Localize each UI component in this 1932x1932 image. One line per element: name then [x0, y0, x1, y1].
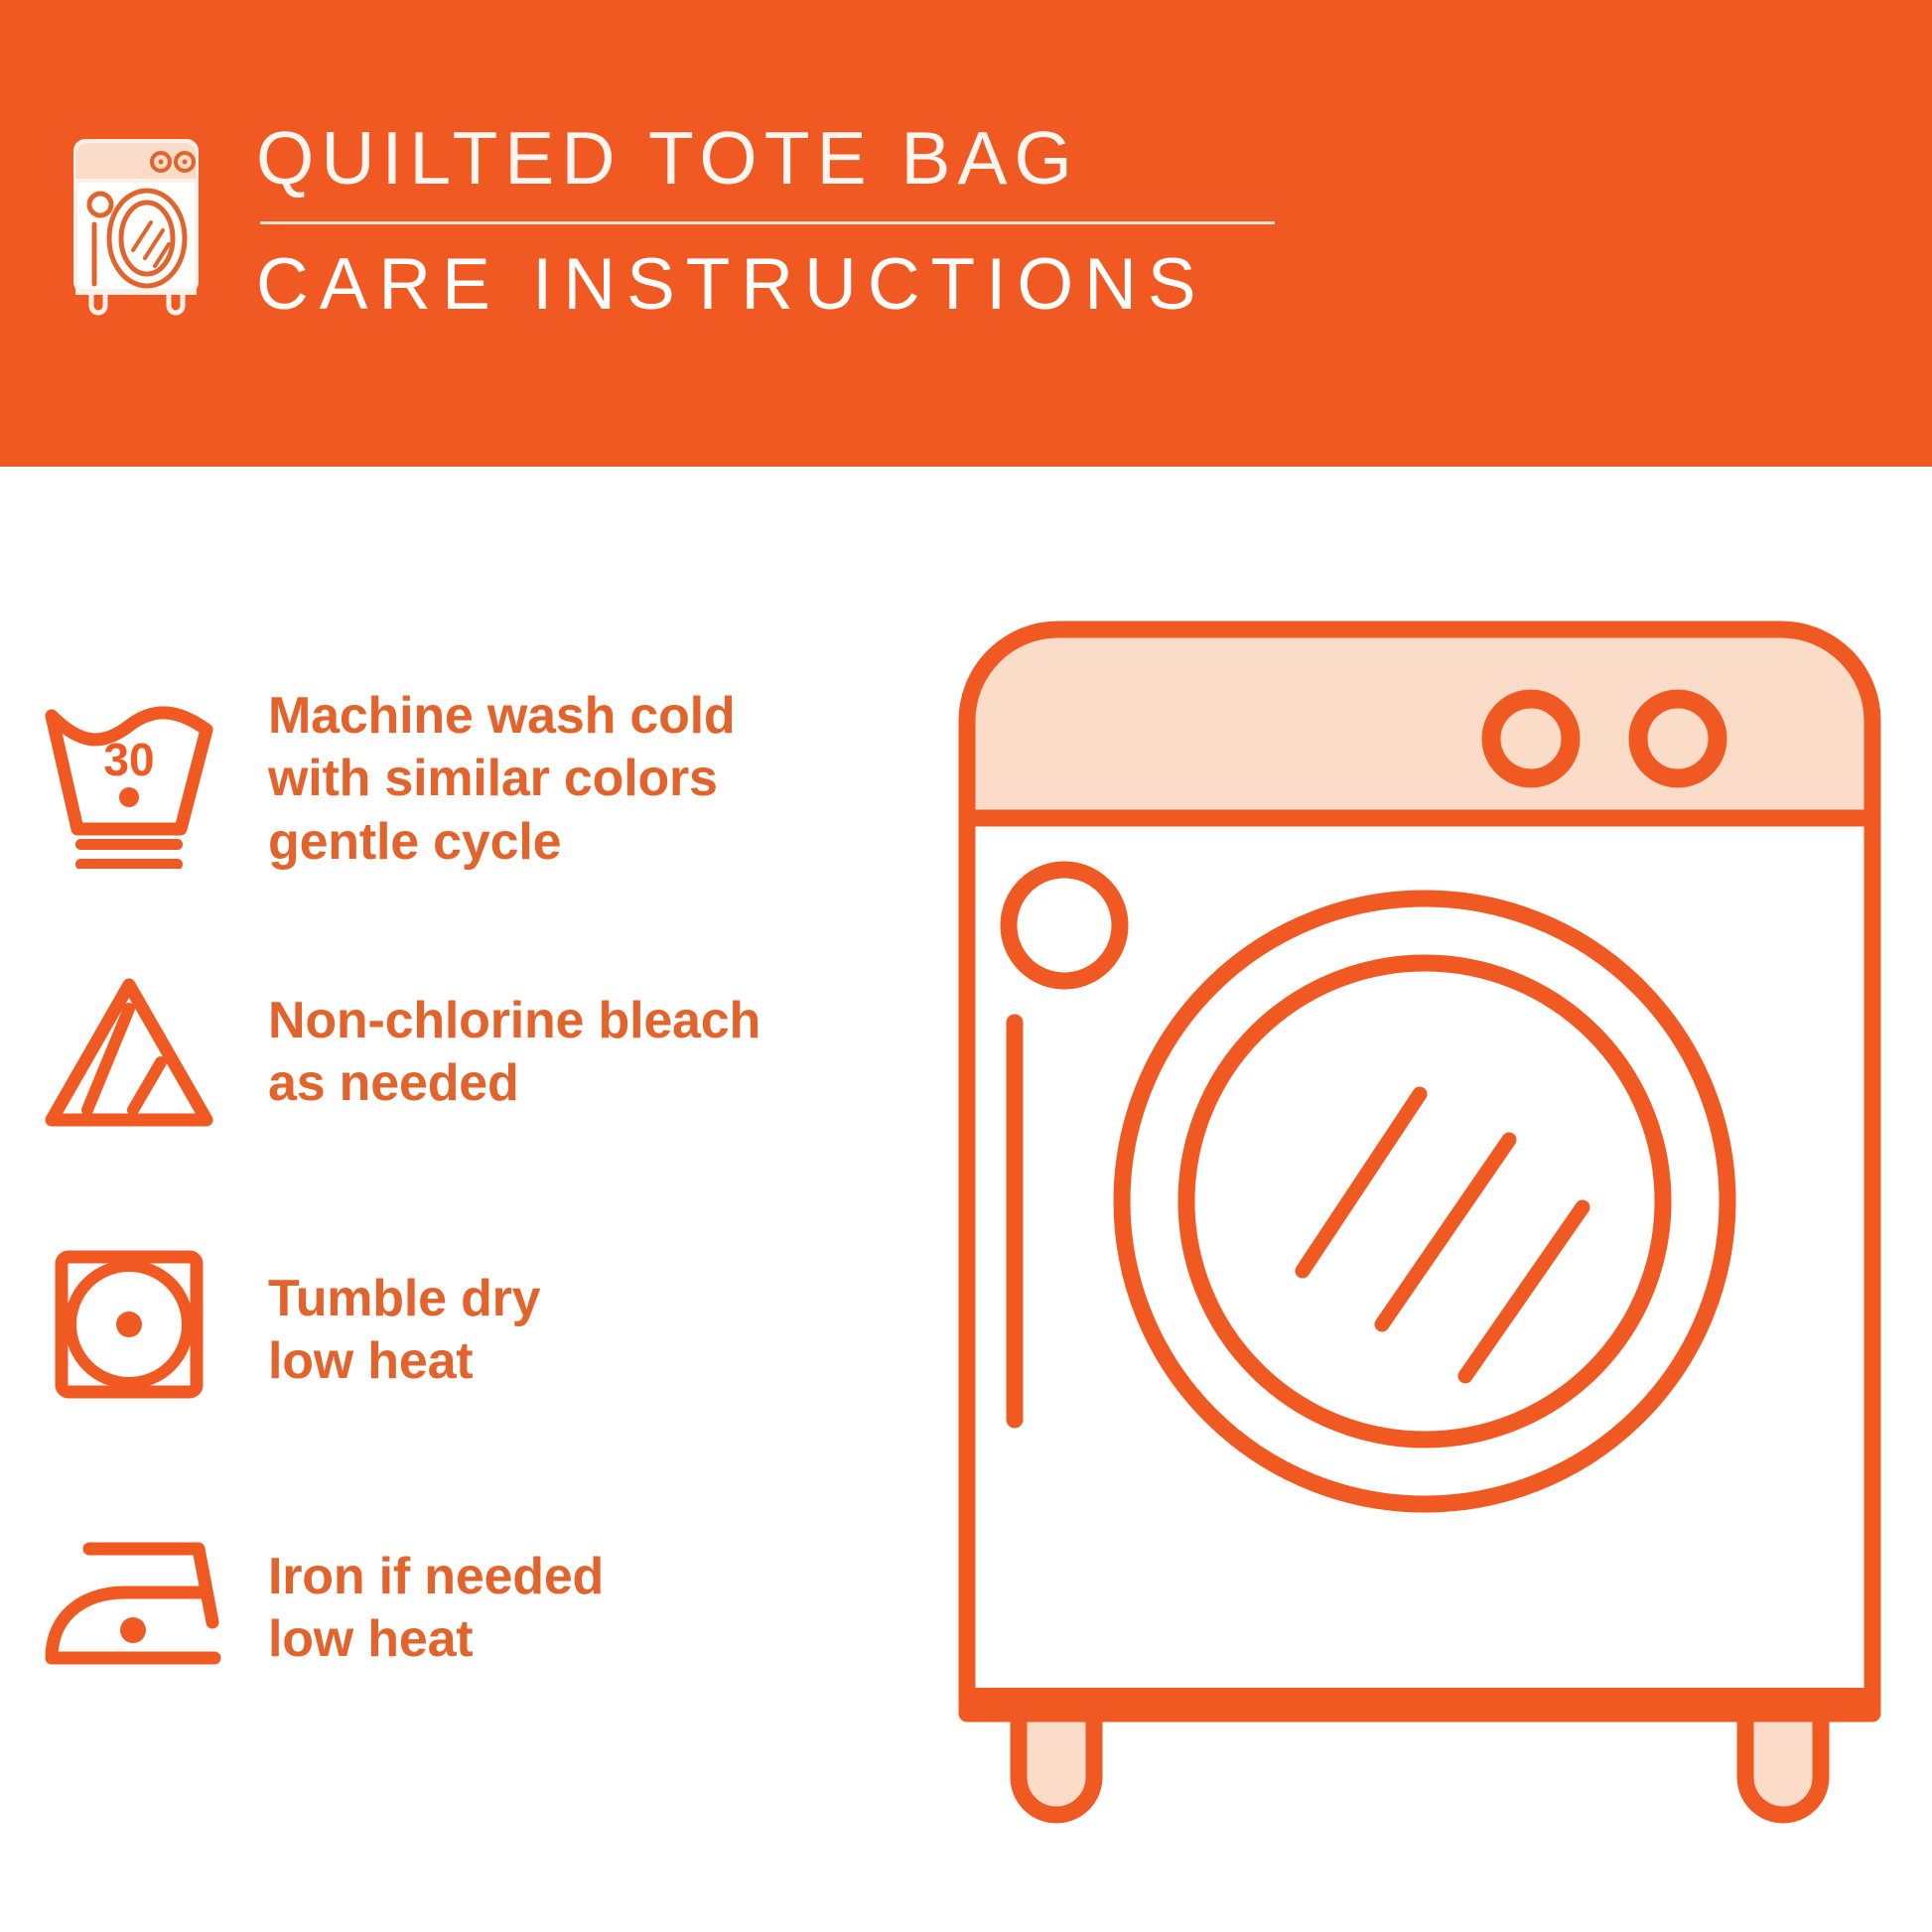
- iron-low-heat-icon: [0, 1519, 258, 1698]
- washing-machine-illustration: [953, 616, 1886, 1866]
- detergent-port: [1009, 870, 1120, 981]
- drum-stripe-3: [1465, 1207, 1583, 1376]
- care-label: Tumble dry low heat: [258, 1268, 540, 1394]
- page-subtitle: CARE INSTRUCTIONS: [256, 248, 1275, 321]
- leg-left: [1019, 1714, 1094, 1815]
- drum-outer-ring: [1122, 898, 1727, 1504]
- care-label-line: low heat: [268, 1330, 540, 1393]
- control-panel: [967, 629, 1872, 818]
- care-label-line: with similar colors: [268, 748, 736, 810]
- header-banner: QUILTED TOTE BAG CARE INSTRUCTIONS: [0, 0, 1932, 467]
- care-row: 30 Machine wash cold with similar colors…: [0, 660, 943, 898]
- wash-temperature-value: 30: [103, 734, 154, 785]
- washing-machine-icon: [69, 127, 208, 316]
- tumble-dry-low-heat-icon: [0, 1241, 258, 1420]
- care-label-line: Non-chlorine bleach: [268, 990, 760, 1052]
- care-label-line: as needed: [268, 1052, 760, 1115]
- care-label: Non-chlorine bleach as needed: [258, 990, 760, 1116]
- care-label-line: Tumble dry: [268, 1268, 540, 1330]
- care-label-line: low heat: [268, 1608, 604, 1671]
- care-label-line: Iron if needed: [268, 1546, 604, 1608]
- care-row: Tumble dry low heat: [0, 1211, 943, 1449]
- care-label: Iron if needed low heat: [258, 1546, 604, 1672]
- wash-dot: [119, 787, 139, 807]
- page-title: QUILTED TOTE BAG: [256, 121, 1275, 196]
- care-row: Non-chlorine bleach as needed: [0, 933, 943, 1172]
- title-divider: [260, 221, 1275, 224]
- header-text-block: QUILTED TOTE BAG CARE INSTRUCTIONS: [256, 119, 1275, 321]
- drum-stripe-1: [1303, 1094, 1420, 1271]
- care-row: Iron if needed low heat: [0, 1489, 943, 1727]
- care-label-line: gentle cycle: [268, 811, 736, 874]
- leg-right: [1745, 1714, 1821, 1815]
- triangle-non-chlorine-bleach-icon: [0, 963, 258, 1142]
- drum-stripe-2: [1382, 1140, 1509, 1324]
- care-label-line: Machine wash cold: [268, 685, 736, 748]
- header-content: QUILTED TOTE BAG CARE INSTRUCTIONS: [69, 119, 1275, 321]
- wash-tub-30-gentle-icon: 30: [0, 690, 258, 869]
- drum-inner-ring: [1186, 963, 1663, 1440]
- care-label: Machine wash cold with similar colors ge…: [258, 685, 736, 874]
